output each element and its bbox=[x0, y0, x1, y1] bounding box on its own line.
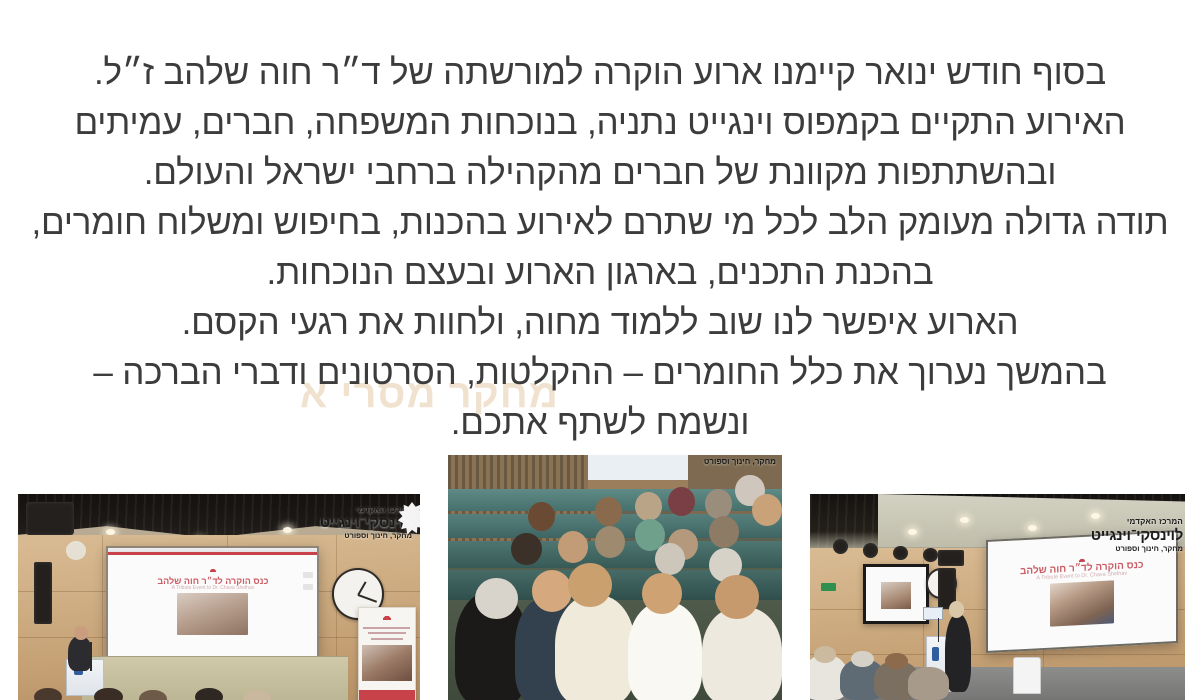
logo-line-2: לוינסקי־וינגייט bbox=[1091, 528, 1183, 545]
event-roll-up-banner bbox=[358, 607, 416, 700]
audience-head bbox=[655, 543, 685, 575]
text-line-8: ונשמח לשתף אתכם. bbox=[14, 398, 1186, 448]
photo-audience: מחקר, חינוך וספורט bbox=[448, 455, 782, 700]
text-line-4: תודה גדולה מעומק הלב לכל מי שתרם לאירוע … bbox=[14, 198, 1186, 248]
audience-head bbox=[709, 516, 739, 548]
audience-head bbox=[595, 526, 625, 558]
audience-person-body bbox=[702, 607, 782, 700]
logo-line-1: המרכז האקדמי bbox=[1091, 518, 1183, 527]
banner-photo bbox=[362, 645, 412, 680]
banner-footer-bar bbox=[359, 690, 415, 700]
text-line-3: ובהשתתפות מקוונת של חברים מהקהילה ברחבי … bbox=[14, 148, 1186, 198]
wall-notice bbox=[923, 607, 944, 619]
audience-head bbox=[568, 563, 611, 607]
audience-head bbox=[511, 533, 541, 565]
track-light bbox=[863, 543, 878, 557]
speaker-body bbox=[945, 614, 971, 692]
ceiling-light bbox=[960, 517, 969, 523]
slide-portrait-photo bbox=[1050, 580, 1114, 627]
chair bbox=[1013, 657, 1041, 694]
track-light bbox=[833, 539, 848, 553]
logo-line-2: לוינסקי־וינגייט bbox=[320, 515, 412, 531]
speaker-head bbox=[949, 601, 964, 617]
photo-auditorium-presenter: כנס הוקרה לד״ר חוה שלהב A Tribute Event … bbox=[18, 494, 420, 700]
slide-app-toolbar bbox=[108, 548, 317, 556]
audience-person-body bbox=[908, 667, 949, 700]
banner-text-line bbox=[363, 627, 410, 629]
slide-portrait-photo bbox=[177, 593, 248, 634]
ceiling-light bbox=[1028, 525, 1037, 531]
logo-line-3: מחקר, חינוך וספורט bbox=[1091, 545, 1183, 553]
text-line-6: הארוע איפשר לנו שוב ללמוד מחוה, ולחוות א… bbox=[14, 298, 1186, 348]
banner-logo-mark bbox=[380, 614, 394, 620]
slide-page: מחקר מסרי א בסוף חודש ינואר קיימנו ארוע … bbox=[0, 0, 1200, 700]
microphone-stand bbox=[938, 618, 940, 643]
audience-head bbox=[705, 489, 732, 518]
audience-head bbox=[814, 646, 837, 662]
photo-scene bbox=[448, 455, 782, 700]
audience-person-body bbox=[555, 595, 635, 700]
photo-watermark-text: מחקר, חינוך וספורט bbox=[704, 457, 776, 466]
presenter-body bbox=[68, 636, 92, 671]
audience-head bbox=[885, 653, 908, 669]
audience-head bbox=[715, 575, 758, 619]
logo-mark bbox=[207, 567, 219, 572]
photo-speaker-podium: כנס הוקרה לד״ר חוה שלהב A Tribute Event … bbox=[810, 494, 1185, 700]
logo-mark bbox=[1076, 557, 1088, 563]
wall-speaker bbox=[938, 550, 964, 566]
institution-logo-overlay: המרכז האקדמי לוינסקי־וינגייט מחקר, חינוך… bbox=[320, 506, 412, 540]
audience-head bbox=[558, 531, 588, 563]
audience-head bbox=[635, 492, 662, 521]
logo-line-3: מחקר, חינוך וספורט bbox=[320, 532, 412, 540]
audience-head bbox=[642, 573, 682, 615]
banner-text-line bbox=[371, 638, 403, 640]
projector-rig bbox=[26, 502, 74, 535]
presenter-head bbox=[74, 626, 88, 640]
microphone-stand bbox=[90, 642, 92, 671]
track-light bbox=[893, 546, 908, 560]
text-line-7: בהמשך נערוך את כלל החומרים – ההקלטות, הס… bbox=[14, 348, 1186, 398]
ceiling-light bbox=[908, 529, 917, 535]
audience-person-body bbox=[628, 602, 701, 700]
track-light bbox=[923, 548, 938, 562]
audience-head bbox=[752, 494, 782, 526]
secondary-projection-screen bbox=[863, 564, 929, 624]
slide-panel-button bbox=[303, 572, 313, 579]
text-line-2: האירוע התקיים בקמפוס וינגייט נתניה, בנוכ… bbox=[14, 98, 1186, 148]
text-line-1: בסוף חודש ינואר קיימנו ארוע הוקרה למורשת… bbox=[14, 48, 1186, 98]
audience-head bbox=[532, 570, 572, 612]
podium-logo bbox=[932, 647, 939, 661]
audience-head bbox=[851, 651, 874, 667]
audience-head bbox=[595, 497, 622, 526]
text-line-5: בהכנת התכנים, בארגון הארוע ובעצם הנוכחות… bbox=[14, 248, 1186, 298]
projection-screen: כנס הוקרה לד״ר חוה שלהב A Tribute Event … bbox=[106, 546, 319, 659]
event-recap-text: בסוף חודש ינואר קיימנו ארוע הוקרה למורשת… bbox=[0, 48, 1200, 448]
audience-head bbox=[94, 688, 122, 700]
slide-title-en: A Tribute Event to Dr. Chava Shelhav bbox=[108, 585, 317, 591]
audience-head bbox=[475, 578, 518, 620]
institution-logo-overlay: המרכז האקדמי לוינסקי־וינגייט מחקר, חינוך… bbox=[1091, 518, 1183, 554]
slide-panel-button bbox=[303, 584, 313, 591]
slide-portrait-photo bbox=[881, 582, 911, 609]
wall-speaker bbox=[34, 562, 52, 624]
audience-head bbox=[528, 502, 555, 531]
exit-sign bbox=[821, 583, 836, 591]
banner-text-line bbox=[368, 632, 406, 634]
